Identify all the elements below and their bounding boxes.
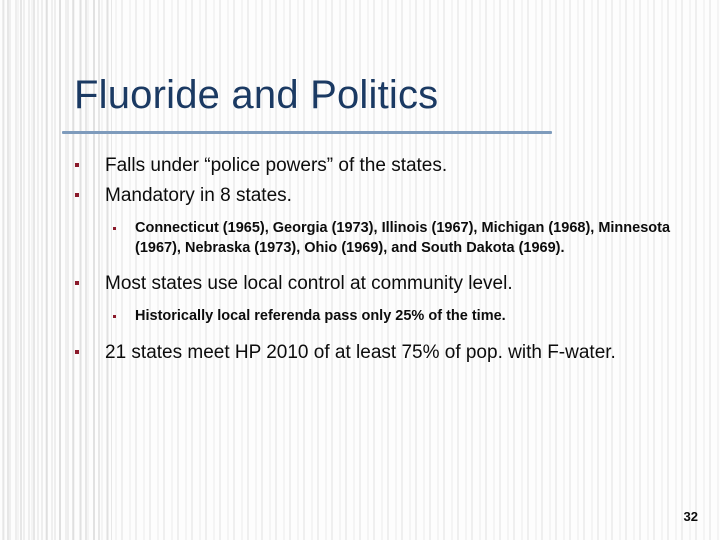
list-item-label: Connecticut (1965), Georgia (1973), Illi… (135, 220, 670, 256)
list-item-label: Mandatory in 8 states. (105, 185, 292, 206)
list-item: Most states use local control at communi… (0, 270, 720, 297)
spacer (0, 260, 720, 270)
title-divider (62, 131, 552, 134)
page-number: 32 (684, 509, 698, 524)
bullet-marker-icon (75, 350, 79, 354)
list-item-label: 21 states meet HP 2010 of at least 75% o… (105, 342, 616, 363)
spacer (0, 300, 720, 307)
page-title: Fluoride and Politics (74, 72, 438, 118)
list-item: Falls under “police powers” of the state… (0, 152, 720, 179)
presentation-slide: Fluoride and Politics Falls under “polic… (0, 0, 720, 540)
list-item: Mandatory in 8 states. (0, 182, 720, 209)
list-item: Historically local referenda pass only 2… (0, 307, 720, 327)
bullet-marker-icon (113, 315, 116, 318)
bullet-marker-icon (75, 163, 79, 167)
list-item: Connecticut (1965), Georgia (1973), Illi… (0, 219, 720, 258)
slide-content: Fluoride and Politics Falls under “polic… (0, 0, 720, 540)
list-item-label: Historically local referenda pass only 2… (135, 308, 506, 324)
spacer (0, 212, 720, 219)
bullet-marker-icon (75, 281, 79, 285)
list-item-label: Most states use local control at communi… (105, 273, 513, 294)
bullet-marker-icon (75, 193, 79, 197)
bullet-marker-icon (113, 227, 116, 230)
bullet-list: Falls under “police powers” of the state… (0, 152, 720, 369)
list-item-label: Falls under “police powers” of the state… (105, 155, 447, 176)
spacer (0, 329, 720, 339)
list-item: 21 states meet HP 2010 of at least 75% o… (0, 339, 720, 366)
